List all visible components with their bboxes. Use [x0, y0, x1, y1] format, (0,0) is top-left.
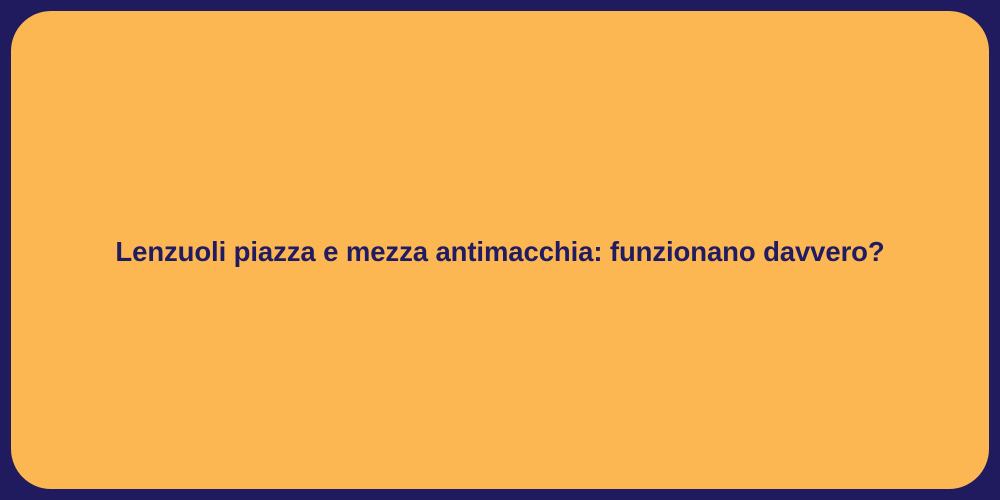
- banner-frame: Lenzuoli piazza e mezza antimacchia: fun…: [0, 0, 1000, 500]
- page-title: Lenzuoli piazza e mezza antimacchia: fun…: [75, 235, 924, 269]
- content-panel: Lenzuoli piazza e mezza antimacchia: fun…: [11, 11, 989, 489]
